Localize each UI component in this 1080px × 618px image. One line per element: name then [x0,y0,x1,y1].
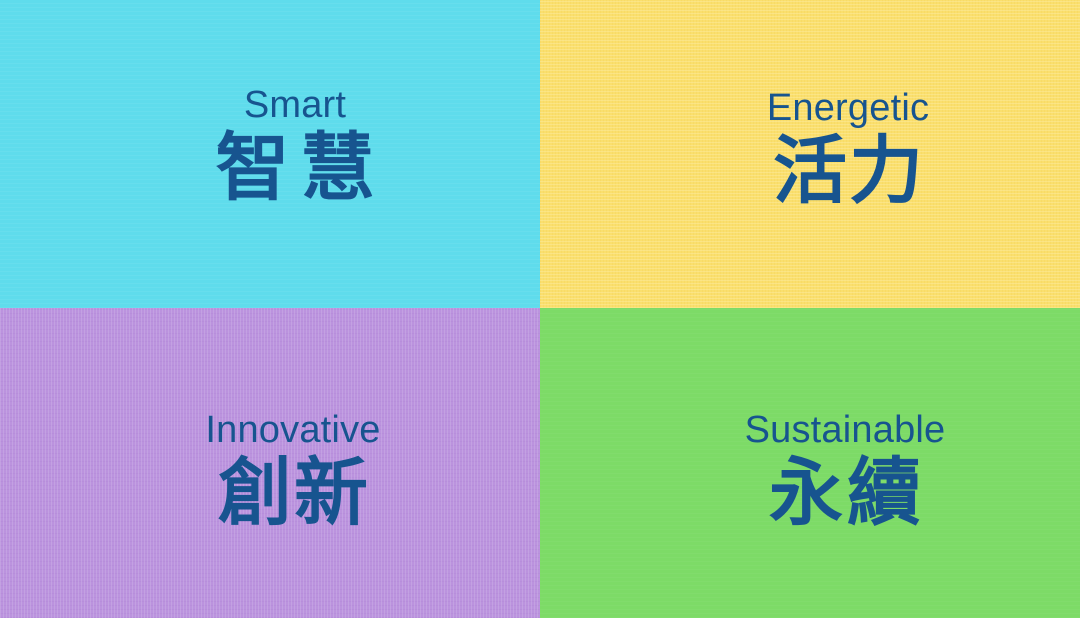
value-text-group: Energetic 活力 [767,89,929,208]
value-label-en-smart: Smart [205,86,386,124]
value-text-group: Smart 智慧 [205,86,386,205]
value-card-energetic[interactable]: Energetic 活力 [540,0,1080,308]
value-label-zh-energetic: 活力 [767,134,929,208]
value-text-group: Innovative 創新 [205,411,380,530]
value-card-innovative[interactable]: Innovative 創新 [0,308,540,618]
value-card-sustainable[interactable]: Sustainable 永續 [540,308,1080,618]
value-card-smart[interactable]: Smart 智慧 [0,0,540,308]
value-label-en-energetic: Energetic [767,89,929,127]
value-label-en-innovative: Innovative [205,411,380,449]
value-label-zh-sustainable: 永續 [745,456,946,530]
brand-values-canvas: Smart 智慧 Energetic 活力 Innovative 創新 Sust… [0,0,1080,618]
value-label-zh-smart: 智慧 [205,131,386,205]
values-grid: Smart 智慧 Energetic 活力 Innovative 創新 Sust… [0,0,1080,618]
value-label-zh-innovative: 創新 [205,456,380,530]
value-label-en-sustainable: Sustainable [745,411,946,449]
value-text-group: Sustainable 永續 [745,411,946,530]
